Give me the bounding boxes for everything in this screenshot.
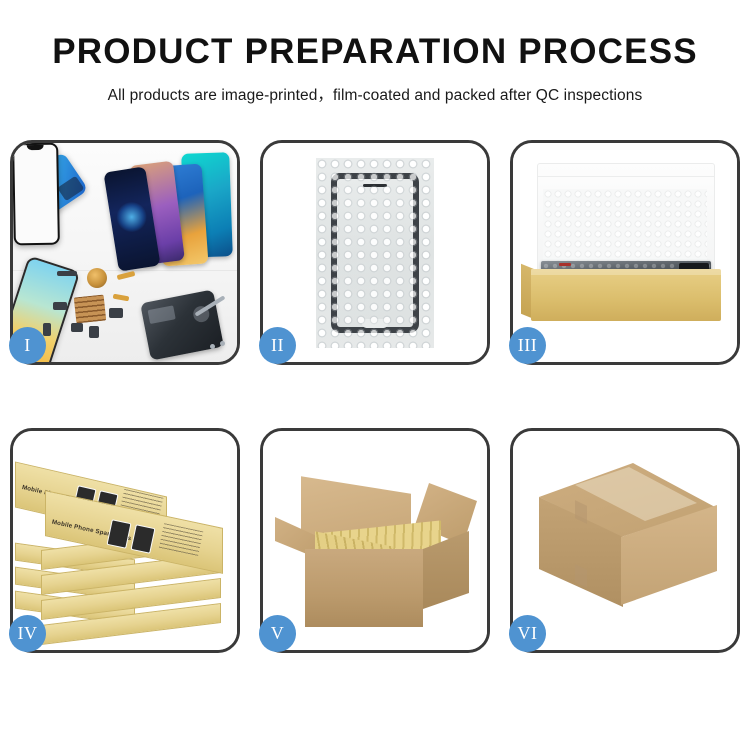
step-badge-1: I <box>9 327 46 364</box>
step-badge-5: V <box>259 615 296 652</box>
part-battery-tab <box>43 323 51 336</box>
kraft-box-base <box>531 269 721 321</box>
step-panel-2: II <box>260 140 490 365</box>
step-panel-5: V <box>260 428 490 653</box>
step-panel-6: VI <box>510 428 740 653</box>
step-image-5 <box>263 431 487 650</box>
part-chip-2 <box>71 323 83 332</box>
step-panel-3: III <box>510 140 740 365</box>
step-panel-4: Mobile Phone Spare Parts Mobile Phone Sp… <box>10 428 240 653</box>
step-badge-3: III <box>509 327 546 364</box>
step-image-3 <box>513 143 737 362</box>
copper-mesh-part <box>74 295 107 324</box>
product-preparation-infographic: PRODUCT PREPARATION PROCESS All products… <box>0 0 750 750</box>
speaker-coil-part <box>87 268 107 288</box>
phone-white-frame <box>13 143 60 245</box>
part-screw-1 <box>220 341 225 346</box>
phone-notch <box>27 145 44 150</box>
part-connector-1 <box>57 271 77 276</box>
step-badge-4: IV <box>9 615 46 652</box>
part-camera-module <box>109 308 123 318</box>
part-chip-1 <box>53 302 67 310</box>
part-screw-2 <box>210 344 215 349</box>
step-image-6 <box>513 431 737 650</box>
part-flex-cable-2 <box>113 294 130 302</box>
process-steps-grid: I II <box>10 140 740 653</box>
header: PRODUCT PREPARATION PROCESS All products… <box>0 0 750 105</box>
part-chip-3 <box>89 326 99 338</box>
step-image-4: Mobile Phone Spare Parts Mobile Phone Sp… <box>13 431 237 650</box>
page-subtitle: All products are image-printed，film-coat… <box>0 69 750 105</box>
step-panel-1: I <box>10 140 240 365</box>
logic-board <box>140 289 224 360</box>
page-title: PRODUCT PREPARATION PROCESS <box>0 34 750 69</box>
carton-front-face <box>305 549 423 627</box>
step-image-2 <box>263 143 487 362</box>
step-badge-2: II <box>259 327 296 364</box>
bubble-wrap-sheet <box>316 158 434 348</box>
red-label-mark <box>559 263 571 266</box>
step-image-1 <box>13 143 237 362</box>
bubble-overlay <box>316 158 434 348</box>
step-badge-6: VI <box>509 615 546 652</box>
part-flex-cable-1 <box>117 271 136 280</box>
